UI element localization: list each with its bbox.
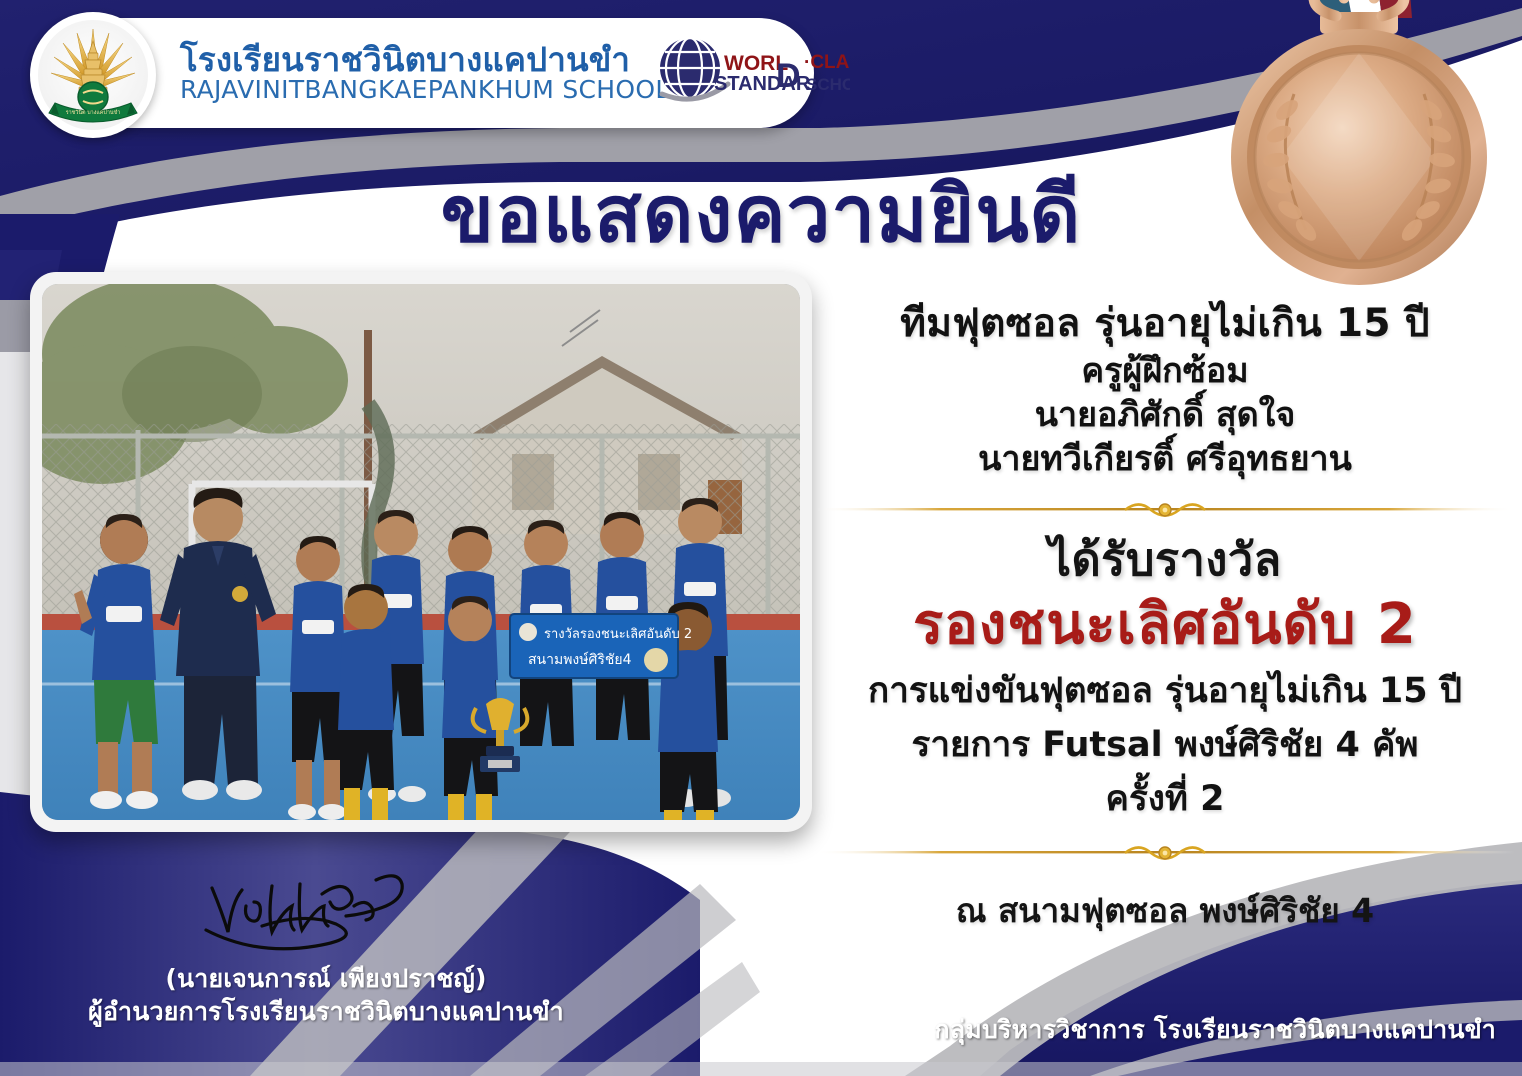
school-name-block: โรงเรียนราชวินิตบางแคปานขำ RAJAVINITBANG… [180,43,670,103]
received-award-label: ได้รับรางวัล [812,533,1518,587]
director-name: (นายเจนการณ์ เพียงปราชญ์) [46,962,606,995]
coach-name-1: นายอภิศักดิ์ สุดใจ [812,393,1518,437]
competition-line-2: รายการ Futsal พงษ์ศิริชัย 4 คัพ [812,722,1518,768]
congratulation-poster: ราชวินิต บางแคปานขำ โรงเรียนราชวินิตบางแ… [0,0,1522,1076]
competition-line-3: ครั้งที่ 2 [812,776,1518,822]
director-position: ผู้อำนวยการโรงเรียนราชวินิตบางแคปานขำ [46,995,606,1028]
svg-text:ราชวินิต บางแคปานขำ: ราชวินิต บางแคปานขำ [66,109,121,116]
award-banner-in-photo: รางวัลรองชนะเลิศอันดับ 2 สนามพงษ์ศิริชัย… [510,614,692,678]
school-name-thai: โรงเรียนราชวินิตบางแคปานขำ [180,43,670,77]
school-header-banner: ราชวินิต บางแคปานขำ โรงเรียนราชวินิตบางแ… [34,18,814,128]
competition-line-1: การแข่งขันฟุตซอล รุ่นอายุไม่เกิน 15 ปี [812,668,1518,714]
school-crest-icon: ราชวินิต บางแคปานขำ [30,12,156,138]
coach-name-2: นายทวีเกียรติ์ ศรีอุทธยาน [812,437,1518,481]
page-title-text: ขอแสดงความยินดี [441,170,1082,260]
footer-credit: กลุ่มบริหารวิชาการ โรงเรียนราชวินิตบางแค… [934,1010,1496,1050]
team-line: ทีมฟุตซอล รุ่นอายุไม่เกิน 15 ปี [812,300,1518,349]
venue-line: ณ สนามฟุตซอล พงษ์ศิริชัย 4 [812,884,1518,937]
award-title: รองชนะเลิศอันดับ 2 [812,591,1518,659]
gold-divider-top [815,497,1515,523]
wcss-school-text: SCHOOL [806,75,850,94]
svg-text:สนามพงษ์ศิริชัย4: สนามพงษ์ศิริชัย4 [528,651,632,668]
page-title: ขอแสดงความยินดี [0,152,1522,276]
handwritten-signature [176,872,476,956]
team-photo: รางวัลรองชนะเลิศอันดับ 2 สนามพงษ์ศิริชัย… [42,284,800,820]
award-details-column: ทีมฟุตซอล รุ่นอายุไม่เกิน 15 ปี ครูผู้ฝึ… [812,300,1518,937]
wcss-class-text: ·CLASS [804,52,850,73]
svg-text:รางวัลรองชนะเลิศอันดับ 2: รางวัลรองชนะเลิศอันดับ 2 [544,627,692,642]
gold-divider-bottom [815,840,1515,866]
world-class-standard-school-logo: WORL D ·CLASS STANDAR SCHOOL [654,32,850,114]
team-photo-frame: รางวัลรองชนะเลิศอันดับ 2 สนามพงษ์ศิริชัย… [30,272,812,832]
wcss-standard-text: STANDAR [714,73,811,95]
director-signature-block: (นายเจนการณ์ เพียงปราชญ์) ผู้อำนวยการโรง… [46,872,606,1028]
coach-label: ครูผู้ฝึกซ้อม [812,349,1518,393]
school-name-english: RAJAVINITBANGKAEPANKHUM SCHOOL [180,77,670,103]
